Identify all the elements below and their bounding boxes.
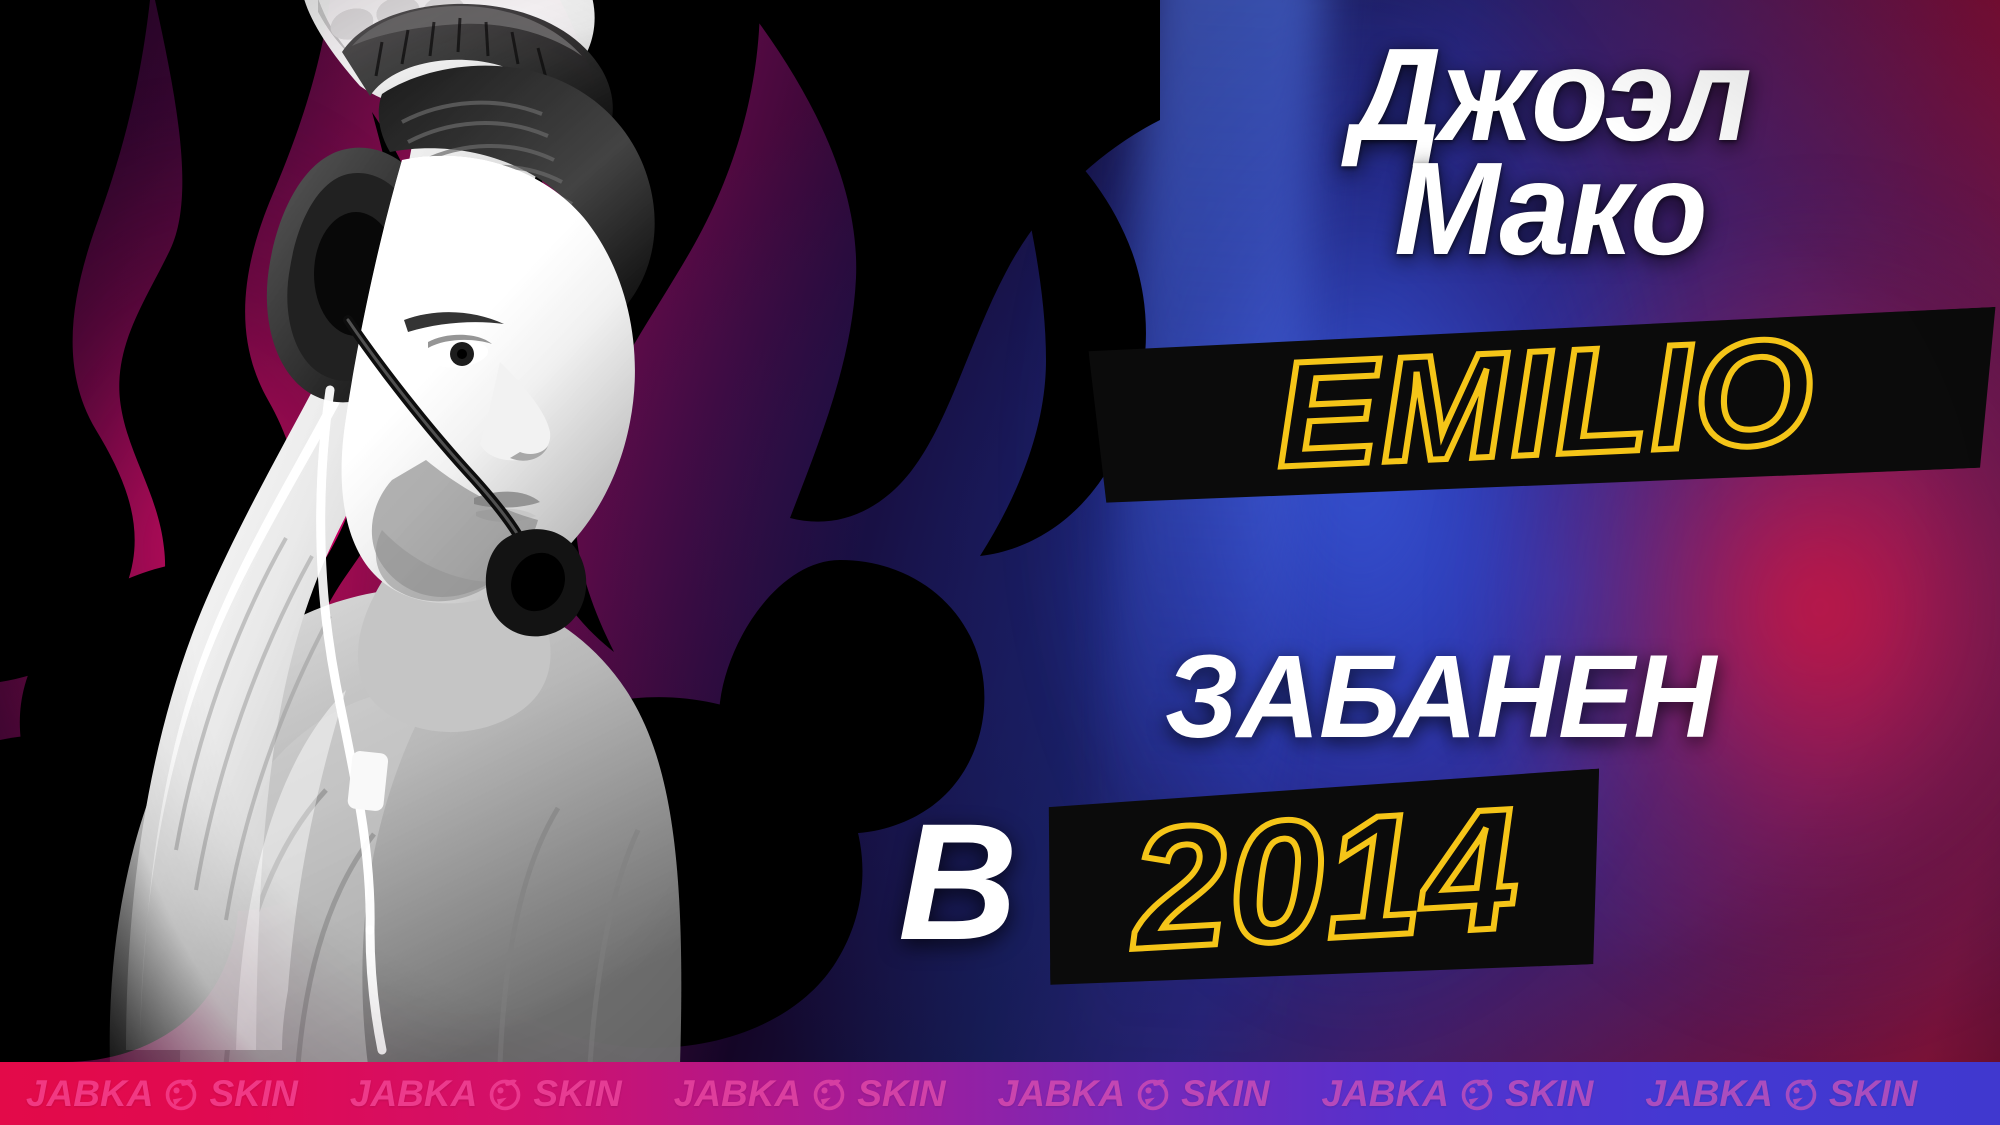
apple-icon <box>1135 1076 1171 1112</box>
watermark-strip: JABKASKINJABKASKINJABKASKINJABKASKINJABK… <box>0 1062 2000 1125</box>
watermark-item: JABKASKIN <box>972 1073 1296 1115</box>
apple-icon <box>1459 1076 1495 1112</box>
year-row: В 2014 <box>880 778 1880 1008</box>
player-portrait <box>30 0 990 1065</box>
apple-icon <box>487 1076 523 1112</box>
watermark-brand-right: SKIN <box>209 1073 297 1115</box>
year-text: 2014 <box>1040 771 1610 988</box>
watermark-brand-right: SKIN <box>1505 1073 1593 1115</box>
apple-icon <box>811 1076 847 1112</box>
watermark-brand-left: JABKA <box>998 1073 1125 1115</box>
watermark-item: JABKASKIN <box>1619 1073 1943 1115</box>
watermark-brand-left: JABKA <box>674 1073 801 1115</box>
watermark-brand-left: JABKA <box>1322 1073 1449 1115</box>
watermark-brand-left: JABKA <box>1645 1073 1772 1115</box>
thumbnail-canvas: Джоэл Мако EMILIO ЗАБАНЕН В 2014 JABKASK… <box>0 0 2000 1125</box>
watermark-brand-left: JABKA <box>26 1073 153 1115</box>
year-preposition: В <box>898 800 1018 966</box>
watermark-item: JABKASKIN <box>648 1073 972 1115</box>
watermark-brand-left: JABKA <box>350 1073 477 1115</box>
watermark-brand-right: SKIN <box>1181 1073 1269 1115</box>
watermark-brand-right: SKIN <box>857 1073 945 1115</box>
watermark-item: JABKASKIN <box>324 1073 648 1115</box>
watermark-item: JABKASKIN <box>1296 1073 1620 1115</box>
apple-icon <box>163 1076 199 1112</box>
watermark-item: JABKASKIN <box>0 1073 324 1115</box>
apple-icon <box>1783 1076 1819 1112</box>
year-banner: 2014 <box>1040 769 1610 995</box>
watermark-brand-right: SKIN <box>533 1073 621 1115</box>
watermark-brand-right: SKIN <box>1829 1073 1917 1115</box>
